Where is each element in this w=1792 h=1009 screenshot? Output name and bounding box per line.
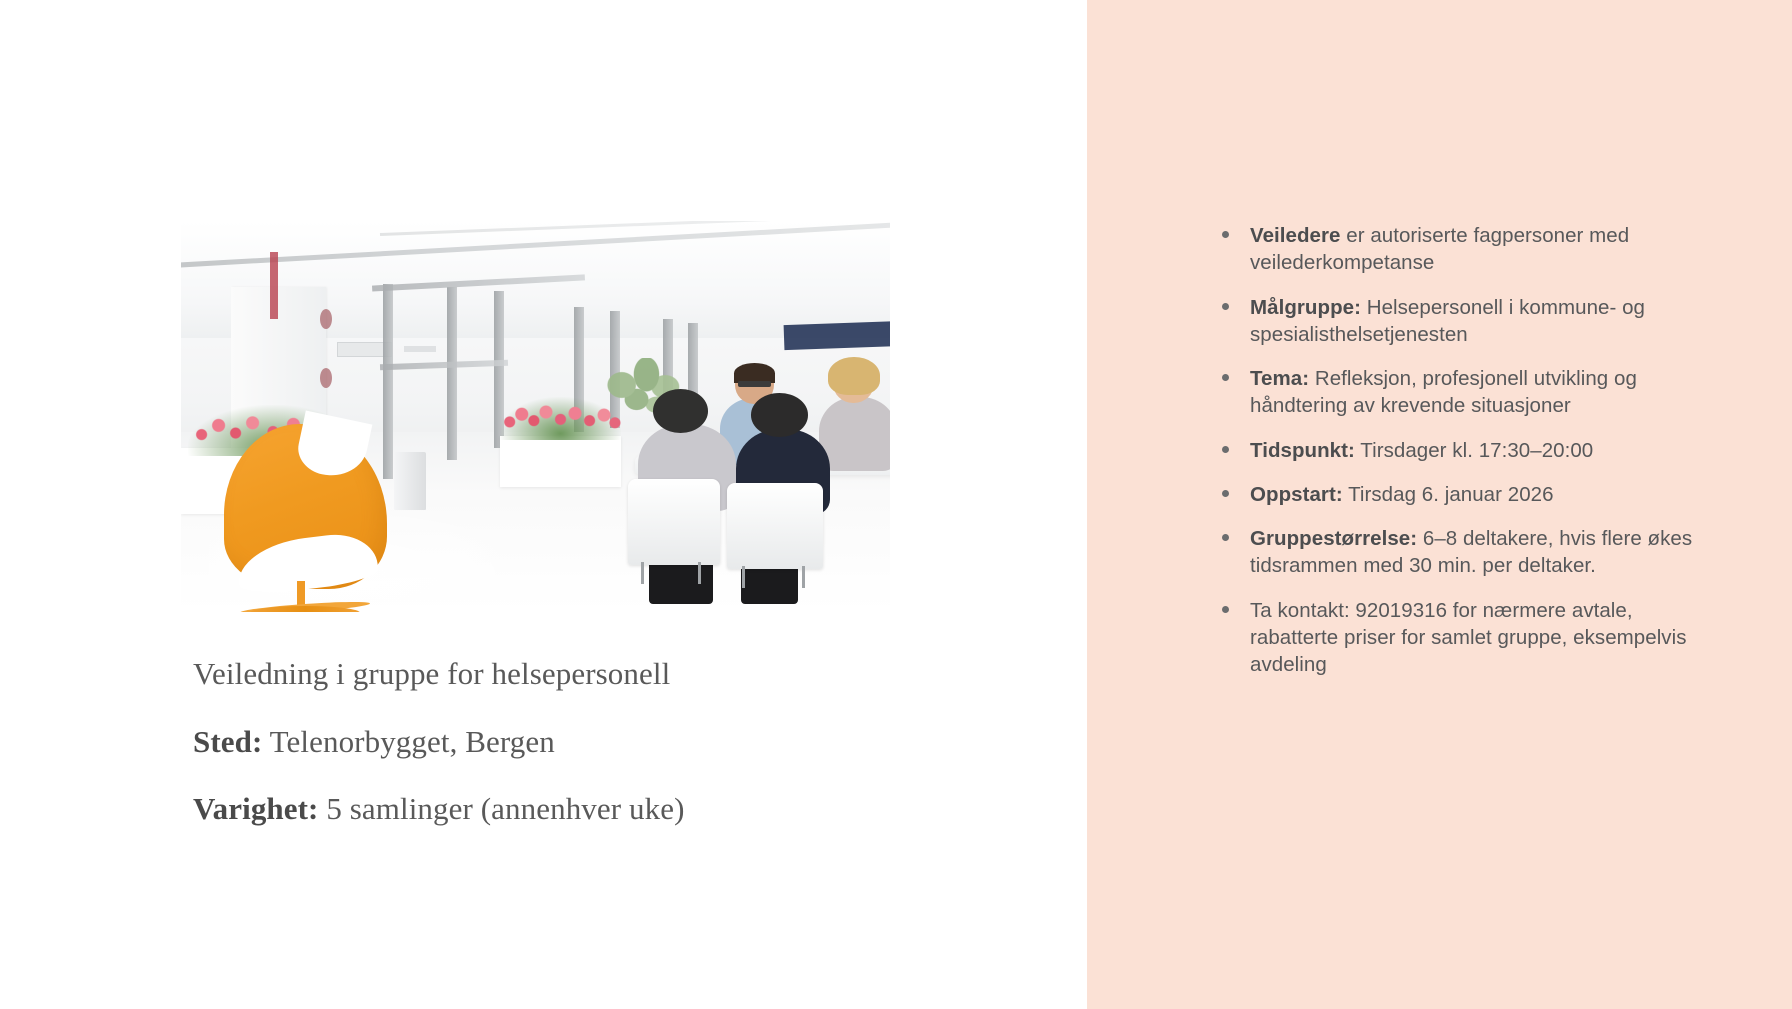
waste-bin xyxy=(394,452,427,511)
slide-canvas: Veiledning i gruppe for helsepersonell S… xyxy=(0,0,1792,1009)
list-item: Tidspunkt: Tirsdager kl. 17:30–20:00 xyxy=(1218,437,1705,464)
bullet-dot-icon xyxy=(1222,231,1229,238)
meeting-chair xyxy=(628,479,720,565)
red-wall-stripe xyxy=(270,252,278,318)
location-label: Sted: xyxy=(193,724,262,759)
list-item: Målgruppe: Helsepersonell i kommune- og … xyxy=(1218,294,1705,349)
course-title: Veiledning i gruppe for helsepersonell xyxy=(193,654,923,694)
bullet-text: Tirsdag 6. januar 2026 xyxy=(1343,483,1554,506)
left-column: Veiledning i gruppe for helsepersonell S… xyxy=(0,0,1087,1009)
location-line: Sted: Telenorbygget, Bergen xyxy=(193,722,923,762)
bullet-lead: Tema: xyxy=(1250,367,1309,390)
person-hair xyxy=(734,363,775,383)
list-item: Tema: Refleksjon, profesjonell utvikling… xyxy=(1218,365,1705,420)
details-bullet-list: Veiledere er autoriserte fagpersoner med… xyxy=(1218,222,1705,678)
duration-value: 5 samlinger (annenhver uke) xyxy=(318,791,684,826)
wall-marker-upper xyxy=(320,309,332,329)
person-head xyxy=(751,393,808,437)
list-item: Ta kontakt: 92019316 for nærmere avtale,… xyxy=(1218,597,1705,679)
bullet-dot-icon xyxy=(1222,606,1229,613)
location-value: Telenorbygget, Bergen xyxy=(262,724,554,759)
chair-leg xyxy=(641,562,644,584)
bullet-text: Refleksjon, profesjonell utvikling og hå… xyxy=(1250,367,1637,417)
bullet-dot-icon xyxy=(1222,303,1229,310)
photo-scene xyxy=(181,221,890,612)
meeting-chair xyxy=(727,483,823,569)
blue-signage xyxy=(783,321,890,351)
bullet-dot-icon xyxy=(1222,534,1229,541)
bullet-text: Tirsdager kl. 17:30–20:00 xyxy=(1355,439,1593,462)
list-item: Oppstart: Tirsdag 6. januar 2026 xyxy=(1218,481,1705,508)
bullet-lead: Oppstart: xyxy=(1250,483,1343,506)
duration-line: Varighet: 5 samlinger (annenhver uke) xyxy=(193,789,923,829)
bullet-lead: Veiledere xyxy=(1250,224,1341,247)
window-mullion xyxy=(447,287,457,459)
bullet-dot-icon xyxy=(1222,446,1229,453)
course-title-text: Veiledning i gruppe for helsepersonell xyxy=(193,656,670,691)
chair-leg xyxy=(698,562,701,584)
bullet-text: Ta kontakt: 92019316 for nærmere avtale,… xyxy=(1250,599,1687,677)
duration-label: Varighet: xyxy=(193,791,318,826)
list-item: Veiledere er autoriserte fagpersoner med… xyxy=(1218,222,1705,277)
bullet-dot-icon xyxy=(1222,490,1229,497)
wall-sign-secondary xyxy=(404,346,436,352)
bullet-dot-icon xyxy=(1222,374,1229,381)
office-meeting-photo xyxy=(181,221,890,612)
window-rail xyxy=(379,360,507,370)
bullet-lead: Målgruppe: xyxy=(1250,296,1361,319)
glasses-icon xyxy=(738,381,771,387)
chair-leg xyxy=(802,566,805,588)
person-head xyxy=(653,389,708,433)
person-hair xyxy=(828,357,879,394)
bullet-lead: Tidspunkt: xyxy=(1250,439,1355,462)
right-accent-panel: Veiledere er autoriserte fagpersoner med… xyxy=(1087,0,1792,1009)
left-text-block: Veiledning i gruppe for helsepersonell S… xyxy=(193,654,923,829)
list-item: Gruppestørrelse: 6–8 deltakere, hvis fle… xyxy=(1218,525,1705,580)
orange-egg-chair xyxy=(224,424,387,612)
egg-chair-base xyxy=(250,606,361,612)
chair-leg xyxy=(742,566,745,588)
bullet-lead: Gruppestørrelse: xyxy=(1250,527,1417,550)
wall-marker-lower xyxy=(320,368,332,388)
